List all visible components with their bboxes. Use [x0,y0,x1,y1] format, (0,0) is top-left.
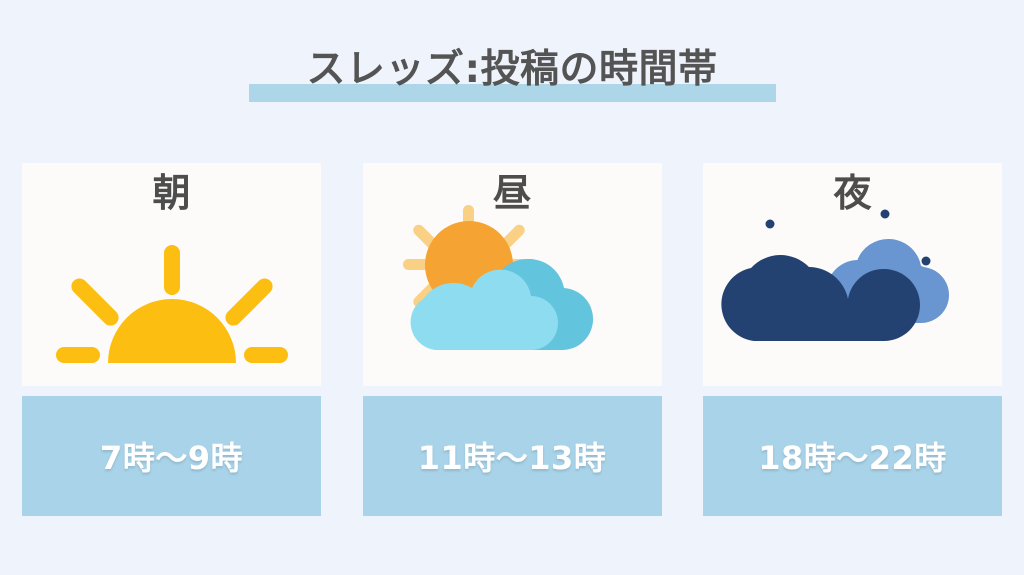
time-slot-card-list: 朝 7時〜9時 [22,163,1002,516]
card-image-area-morning: 朝 [22,163,321,386]
card-heading-midday: 昼 [363,171,662,215]
card-image-area-midday: 昼 [363,163,662,386]
card-heading-night: 夜 [703,171,1002,215]
time-range-midday: 11時〜13時 [363,396,662,516]
time-slot-card-night[interactable]: 夜 [703,163,1002,516]
sun-behind-cloud-icon [403,197,621,377]
card-band-midday: 11時〜13時 [363,396,662,516]
time-slot-card-midday[interactable]: 昼 [363,163,662,516]
time-range-morning: 7時〜9時 [22,396,321,516]
sunrise-icon [56,235,288,365]
card-band-morning: 7時〜9時 [22,396,321,516]
time-slot-card-morning[interactable]: 朝 7時〜9時 [22,163,321,516]
card-heading-morning: 朝 [22,171,321,215]
page-title: スレッズ:投稿の時間帯 [0,44,1024,96]
card-image-area-night: 夜 [703,163,1002,386]
page-title-block: スレッズ:投稿の時間帯 [0,44,1024,104]
time-range-night: 18時〜22時 [703,396,1002,516]
card-band-night: 18時〜22時 [703,396,1002,516]
